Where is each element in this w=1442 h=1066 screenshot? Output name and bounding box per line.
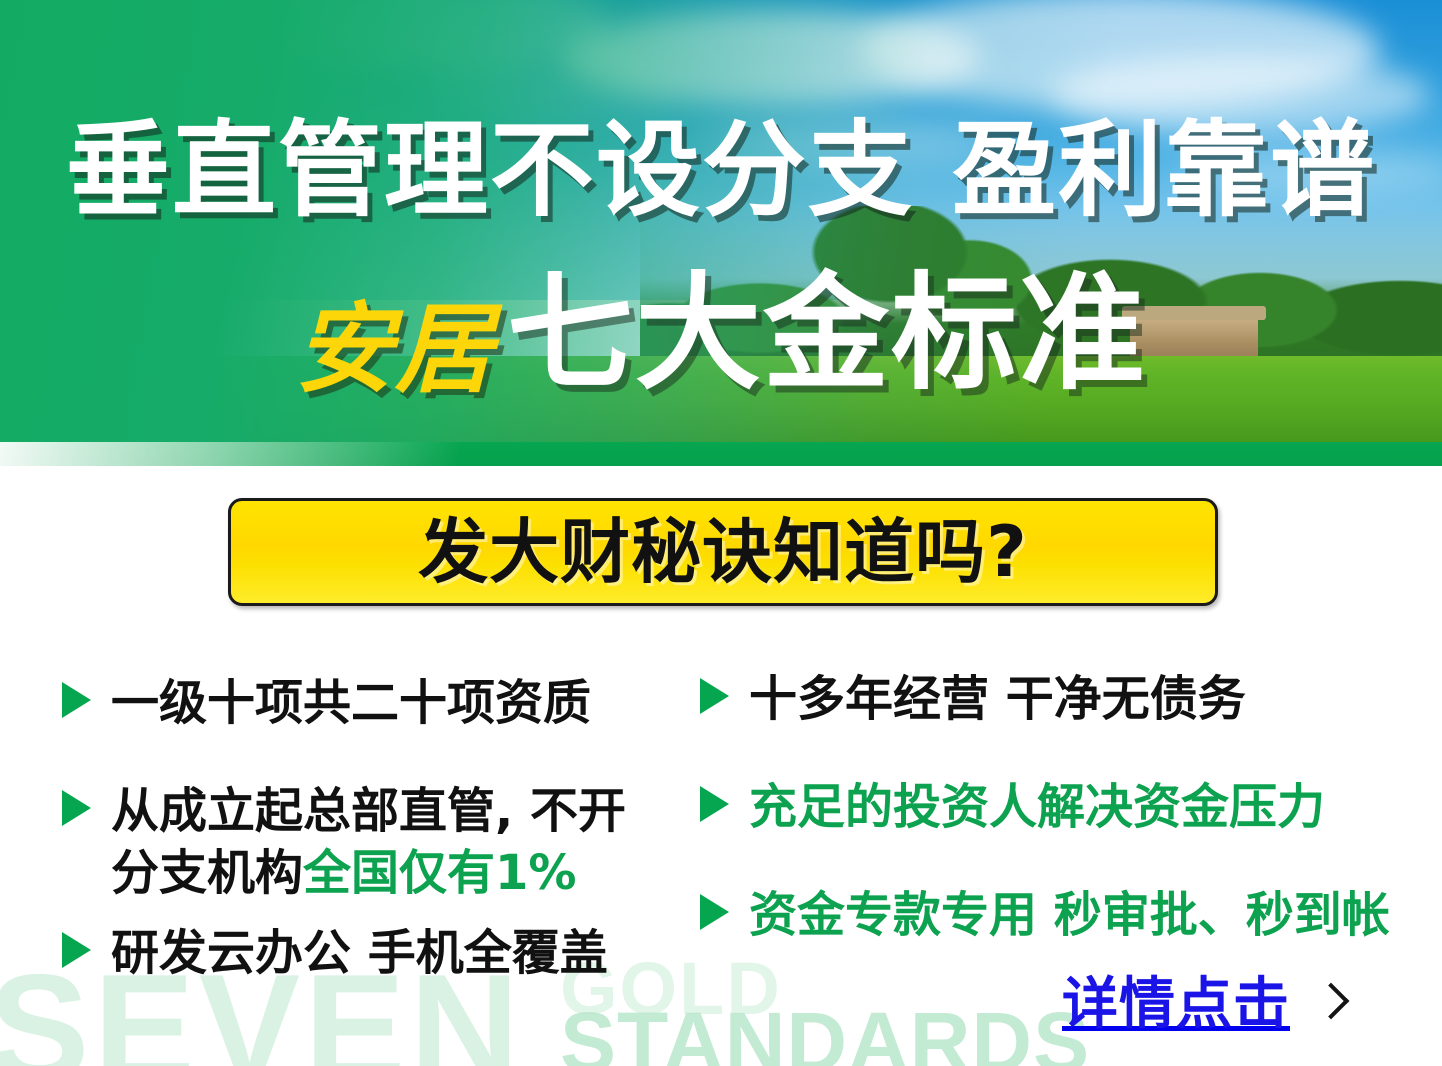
list-item-label: 十多年经营 干净无债务 [749,668,1246,730]
green-bar-highlight [0,442,620,466]
list-item: 资金专款专用 秒审批、秒到帐 [700,884,1390,946]
hero-headline-primary: 垂直管理不设分支 盈利靠谱 [0,118,1442,222]
list-item: 从成立起总部直管, 不开分支机构全国仅有1% [62,780,631,904]
cta-banner-text: 发大财秘诀知道吗? [418,517,1028,587]
chevron-right-icon [1316,984,1342,1028]
detail-link-label: 详情点击 [1062,976,1290,1034]
hero-headline-secondary: 安居七大金标准 [0,270,1442,437]
triangle-right-icon [700,678,729,714]
triangle-right-icon [700,786,729,822]
list-item: 充足的投资人解决资金压力 [700,776,1325,838]
list-item-label: 研发云办公 手机全覆盖 [111,922,608,984]
list-item-label: 资金专款专用 秒审批、秒到帐 [749,884,1390,946]
triangle-right-icon [700,894,729,930]
watermark-standards: STANDARDS [560,1000,1090,1066]
promo-banner: 垂直管理不设分支 盈利靠谱 安居七大金标准 SEVEN GOLD STANDAR… [0,0,1442,1066]
hero-headline-secondary-text: 七大金标准 [507,260,1147,407]
cta-banner[interactable]: 发大财秘诀知道吗? [228,498,1218,606]
list-item: 研发云办公 手机全覆盖 [62,922,608,984]
feature-list: 一级十项共二十项资质 从成立起总部直管, 不开分支机构全国仅有1% 研发云办公 … [0,660,1442,1000]
hero-section: 垂直管理不设分支 盈利靠谱 安居七大金标准 [0,0,1442,466]
triangle-right-icon [62,682,91,718]
brand-name: 安居 [295,292,495,407]
list-item-highlight: 全国仅有1% [303,845,577,901]
triangle-right-icon [62,932,91,968]
list-item-label: 从成立起总部直管, 不开分支机构全国仅有1% [111,780,631,904]
detail-link[interactable]: 详情点击 [1062,976,1342,1034]
list-item: 一级十项共二十项资质 [62,672,591,734]
list-item: 十多年经营 干净无债务 [700,668,1246,730]
list-item-label: 充足的投资人解决资金压力 [749,776,1325,838]
triangle-right-icon [62,790,91,826]
list-item-label: 一级十项共二十项资质 [111,672,591,734]
